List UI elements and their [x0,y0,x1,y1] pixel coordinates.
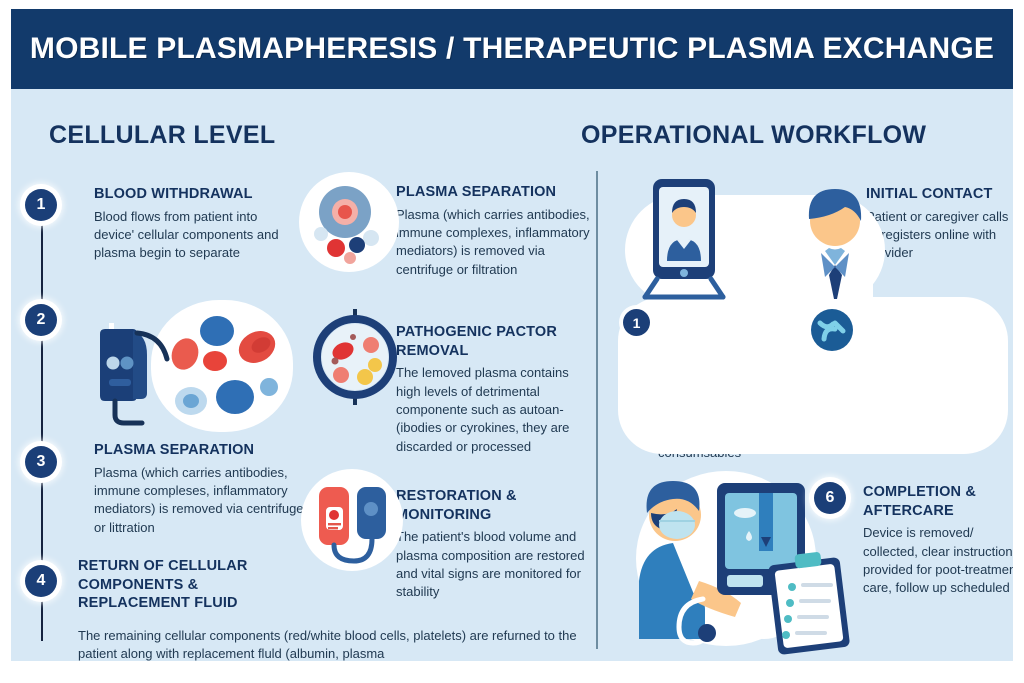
cellular-step-4-title: RETURN OF CELLULAR COMPONENTS & REPLACEM… [78,557,293,613]
workflow-initial-contact: INITIAL CONTACT Patient or caregiver cal… [866,185,1011,263]
poster-header: MOBILE PLASMAPHERESIS / THERAPEUTIC PLAS… [11,9,1013,89]
cellular-step-1-body: Blood flows from patient into device' ce… [94,208,287,263]
cellular-step-1: BLOOD WITHDRAWAL Blood flows from patien… [94,185,287,263]
column-divider [596,171,598,649]
cellular-detail-2: PATHOGENIC PACTOR REMOVAL The lemoved pl… [396,323,591,456]
workflow-completion-body: Device is removed/ collected, clear inst… [863,524,1013,598]
cellular-detail-1-title: PLASMA SEPARATION [396,183,596,202]
infographic-poster: MOBILE PLASMAPHERESIS / THERAPEUTIC PLAS… [0,0,1024,683]
doctor-icon [787,177,883,299]
apheresis-device-icon [91,305,171,431]
poster-title: MOBILE PLASMAPHERESIS / THERAPEUTIC PLAS… [30,32,994,66]
workflow-badge-6[interactable]: 6 [814,482,846,514]
cellular-step-3-title: PLASMA SEPARATION [94,441,309,460]
cellular-detail-1: PLASMA SEPARATION Plasma (which carries … [396,183,596,279]
step-badge-4[interactable]: 4 [25,565,57,597]
blood-bag-icon [311,481,395,565]
cellular-step-4-body-wrap: The remaining cellular components (red/w… [78,627,578,661]
section-title-workflow: OPERATIONAL WORKFLOW [581,121,926,150]
step-badge-1[interactable]: 1 [25,189,57,221]
cellular-detail-3-title: RESTORATION & MONITORING [396,487,591,524]
workflow-badge-1[interactable]: 1 [623,309,650,336]
cellular-detail-2-title: PATHOGENIC PACTOR REMOVAL [396,323,591,360]
section-title-cellular: CELLULAR LEVEL [49,121,275,150]
cellular-detail-2-body: The lemoved plasma contains high levels … [396,364,591,456]
step-badge-2[interactable]: 2 [25,304,57,336]
cellular-step-4-body: The remaining cellular components (red/w… [78,627,578,661]
cellular-detail-1-body: Plasma (which carries antibodies, immune… [396,206,596,280]
cellular-step-1-title: BLOOD WITHDRAWAL [94,185,287,204]
workflow-initial-contact-body: Patient or caregiver calls or registers … [866,208,1011,263]
workflow-initial-contact-title: INITIAL CONTACT [866,185,1011,204]
step-badge-3[interactable]: 3 [25,446,57,478]
workflow-completion: COMPLETION & AFTERCARE Device is removed… [863,483,1013,598]
blood-cells-icon [161,309,285,425]
video-call-phone-icon [643,179,729,297]
cellular-detail-3-body: The patient's blood volume and plasma co… [396,528,591,602]
centrifuge-icon [313,309,399,405]
cellular-detail-3: RESTORATION & MONITORING The patient's b… [396,487,591,602]
clipboard-checklist-icon [769,549,855,653]
scheduling-check-icon[interactable] [811,309,853,351]
workflow-completion-title: COMPLETION & AFTERCARE [863,483,1013,520]
cellular-step-4: RETURN OF CELLULAR COMPONENTS & REPLACEM… [78,557,293,617]
cellular-step-3-body: Plasma (which carries antibodies, immune… [94,464,309,538]
cell-icon [305,178,393,266]
infographic-canvas: MOBILE PLASMAPHERESIS / THERAPEUTIC PLAS… [11,9,1013,661]
cellular-step-3: PLASMA SEPARATION Plasma (which carries … [94,441,309,537]
